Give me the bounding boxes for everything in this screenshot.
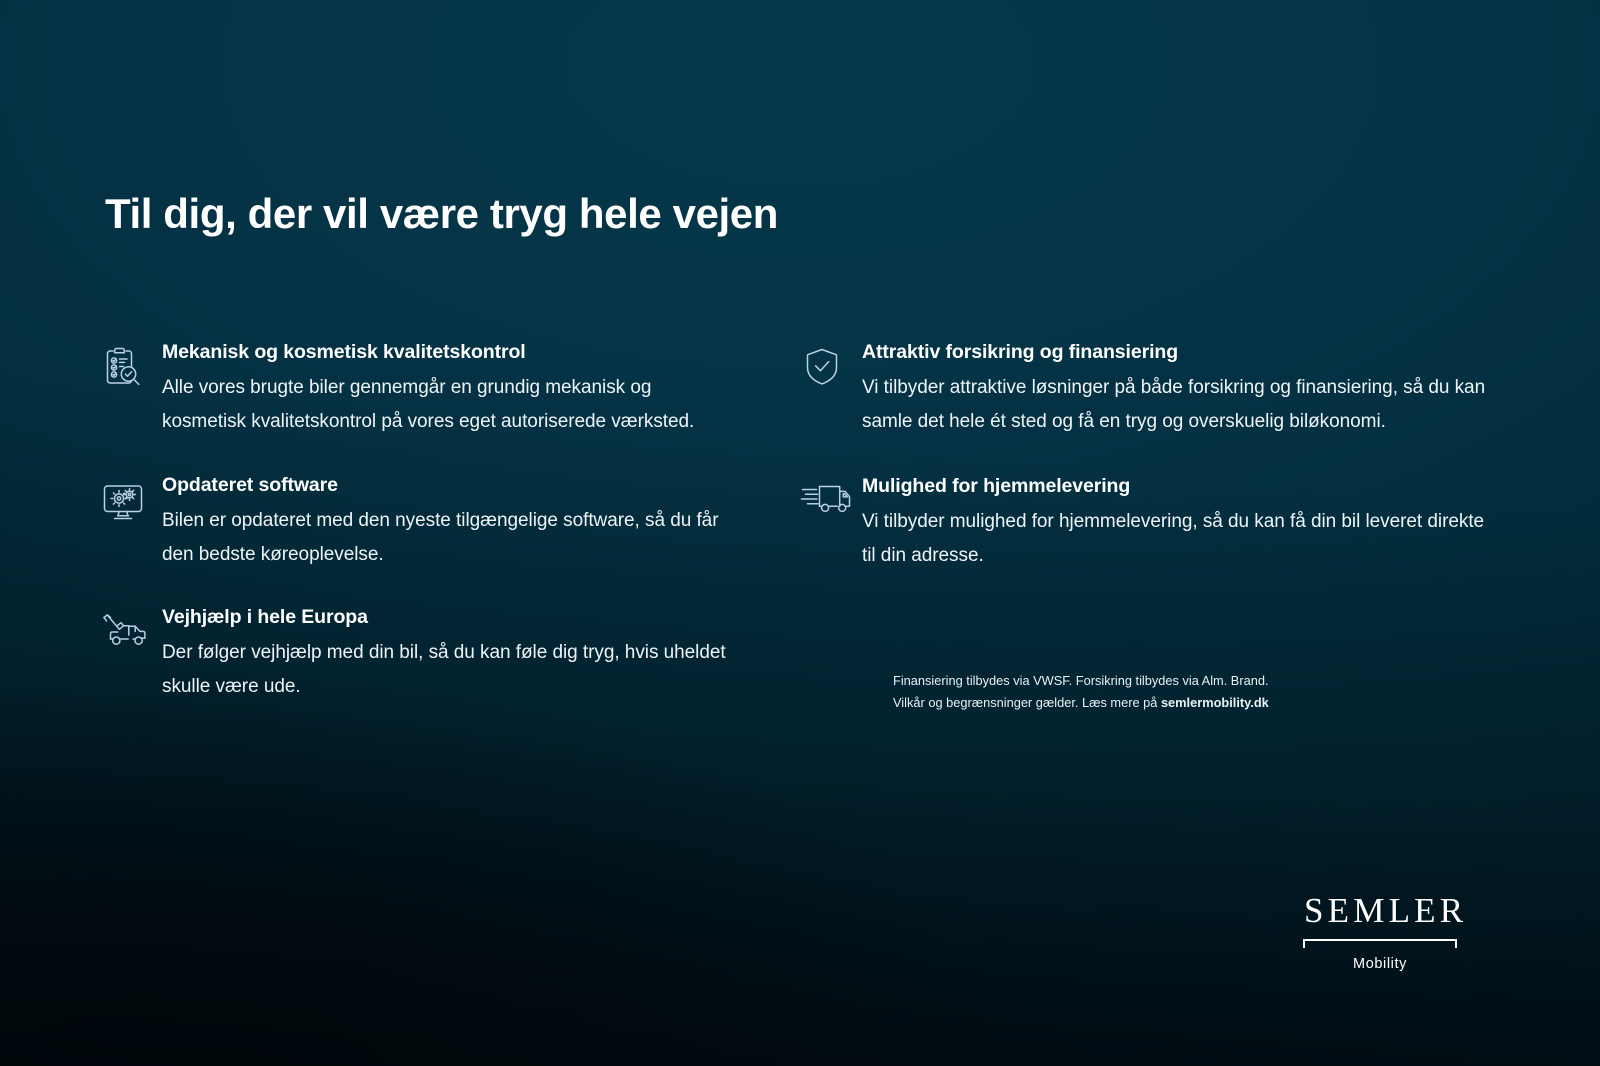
monitor-gears-icon [100,473,162,523]
page-title: Til dig, der vil være tryg hele vejen [105,190,778,238]
feature-item-insurance-financing: Attraktiv forsikring og finansiering Vi … [800,340,1500,439]
feature-column-left: Mekanisk og kosmetisk kvalitetskontrol A… [100,340,740,738]
feature-title: Mulighed for hjemmelevering [862,474,1500,498]
feature-title: Opdateret software [162,473,740,497]
feature-item-updated-software: Opdateret software Bilen er opdateret me… [100,473,740,572]
feature-title: Vejhjælp i hele Europa [162,605,740,629]
disclaimer-line-2-prefix: Vilkår og begrænsninger gælder. Læs mere… [893,695,1161,710]
delivery-truck-icon [800,474,862,518]
semler-mobility-logo: SEMLER Mobility [1300,893,1460,972]
legal-disclaimer: Finansiering tilbydes via VWSF. Forsikri… [893,670,1413,714]
feature-body: Alle vores brugte biler gennemgår en gru… [162,371,740,439]
logo-subtitle: Mobility [1300,956,1460,972]
feature-body: Bilen er opdateret med den nyeste tilgæn… [162,504,740,572]
feature-column-right: Attraktiv forsikring og finansiering Vi … [800,340,1500,607]
logo-divider-rule [1300,939,1460,950]
logo-wordmark: SEMLER [1300,893,1460,928]
feature-item-home-delivery: Mulighed for hjemmelevering Vi tilbyder … [800,474,1500,573]
feature-body: Der følger vejhjælp med din bil, så du k… [162,636,740,704]
feature-title: Attraktiv forsikring og finansiering [862,340,1500,364]
feature-item-roadside-assistance: Vejhjælp i hele Europa Der følger vejhjæ… [100,605,740,704]
feature-body: Vi tilbyder attraktive løsninger på både… [862,371,1500,439]
disclaimer-line-1: Finansiering tilbydes via VWSF. Forsikri… [893,673,1269,688]
tow-truck-icon [100,605,162,651]
feature-item-quality-control: Mekanisk og kosmetisk kvalitetskontrol A… [100,340,740,439]
feature-title: Mekanisk og kosmetisk kvalitetskontrol [162,340,740,364]
shield-check-icon [800,340,862,388]
clipboard-check-magnifier-icon [100,340,162,390]
slide-stage: Til dig, der vil være tryg hele vejen [0,0,1600,1066]
feature-body: Vi tilbyder mulighed for hjemmelevering,… [862,505,1500,573]
disclaimer-website-link[interactable]: semlermobility.dk [1161,695,1269,710]
